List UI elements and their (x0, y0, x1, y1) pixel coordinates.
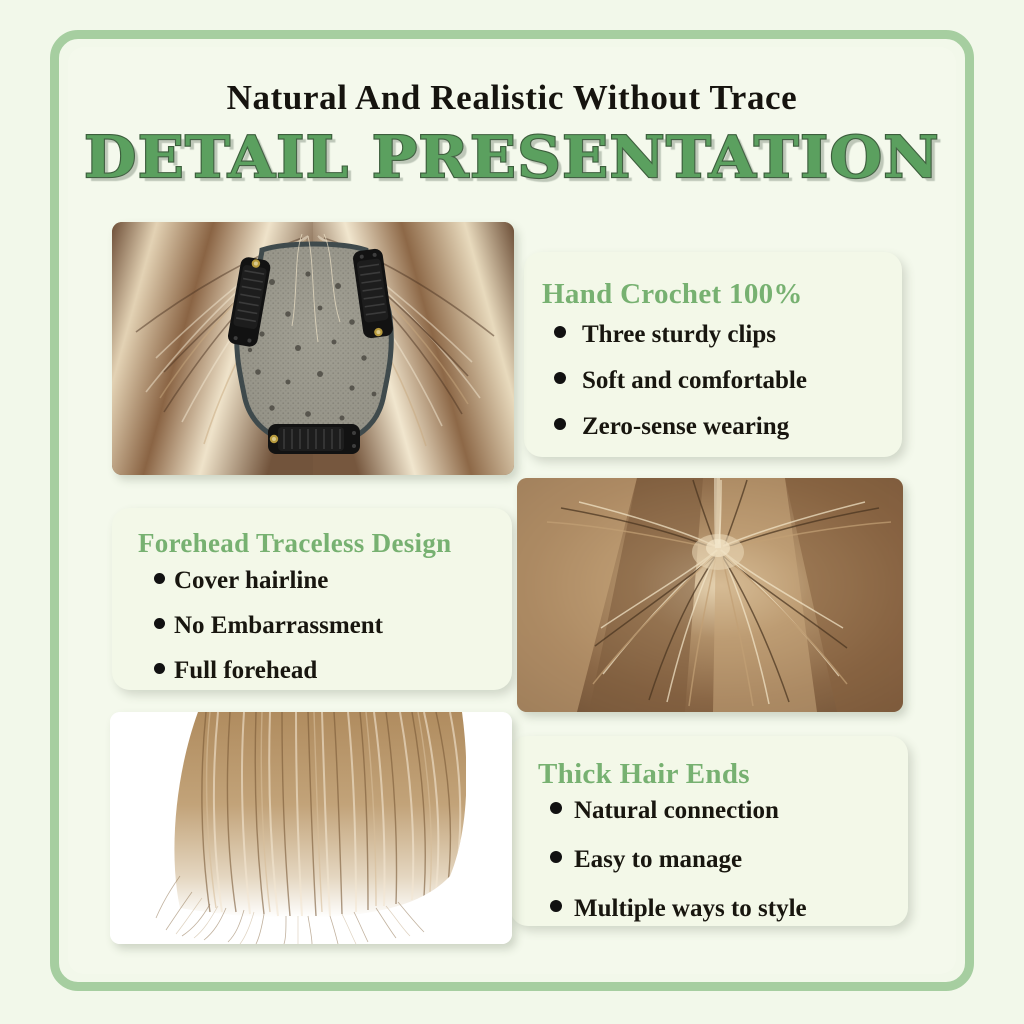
list-item: Multiple ways to style (524, 895, 908, 944)
bullet-dot-icon (154, 573, 165, 584)
list-item: No Embarrassment (128, 612, 512, 657)
list-item: Natural connection (524, 797, 908, 846)
bullet-list: Cover hairline No Embarrassment Full for… (128, 567, 512, 702)
page-subtitle: Natural And Realistic Without Trace (0, 78, 1024, 118)
bullet-dot-icon (550, 900, 562, 912)
bullet-dot-icon (550, 802, 562, 814)
list-item: Three sturdy clips (538, 321, 902, 367)
list-item: Cover hairline (128, 567, 512, 612)
page-title: DETAIL PRESENTATION (0, 124, 1024, 191)
list-item-label: Easy to manage (574, 846, 742, 874)
list-item-label: No Embarrassment (174, 612, 383, 640)
list-item-label: Three sturdy clips (582, 321, 776, 349)
list-item: Soft and comfortable (538, 367, 902, 413)
feature-card-thick-hair-ends: Thick Hair Ends Natural connection Easy … (510, 736, 908, 926)
card-heading: Forehead Traceless Design (138, 528, 512, 559)
list-item: Zero-sense wearing (538, 413, 902, 459)
bullet-list: Natural connection Easy to manage Multip… (524, 797, 908, 944)
bullet-dot-icon (154, 663, 165, 674)
bullet-dot-icon (154, 618, 165, 629)
card-heading: Hand Crochet 100% (542, 278, 902, 311)
image-hair-topper-base-with-clips (112, 222, 514, 475)
list-item-label: Zero-sense wearing (582, 413, 789, 441)
bullet-list: Three sturdy clips Soft and comfortable … (538, 321, 902, 459)
image-hair-parting-closeup (517, 478, 903, 712)
list-item: Easy to manage (524, 846, 908, 895)
list-item-label: Multiple ways to style (574, 895, 807, 923)
card-heading: Thick Hair Ends (538, 758, 908, 791)
bullet-dot-icon (554, 372, 566, 384)
list-item-label: Cover hairline (174, 567, 328, 595)
feature-card-hand-crochet: Hand Crochet 100% Three sturdy clips Sof… (524, 252, 902, 457)
bullet-dot-icon (554, 418, 566, 430)
list-item: Full forehead (128, 657, 512, 702)
image-hair-ends-closeup (110, 712, 512, 944)
bullet-dot-icon (554, 326, 566, 338)
feature-card-forehead-traceless: Forehead Traceless Design Cover hairline… (112, 508, 512, 690)
list-item-label: Natural connection (574, 797, 779, 825)
list-item-label: Soft and comfortable (582, 367, 807, 395)
bullet-dot-icon (550, 851, 562, 863)
product-detail-infographic: Natural And Realistic Without Trace DETA… (0, 0, 1024, 1024)
list-item-label: Full forehead (174, 657, 317, 685)
